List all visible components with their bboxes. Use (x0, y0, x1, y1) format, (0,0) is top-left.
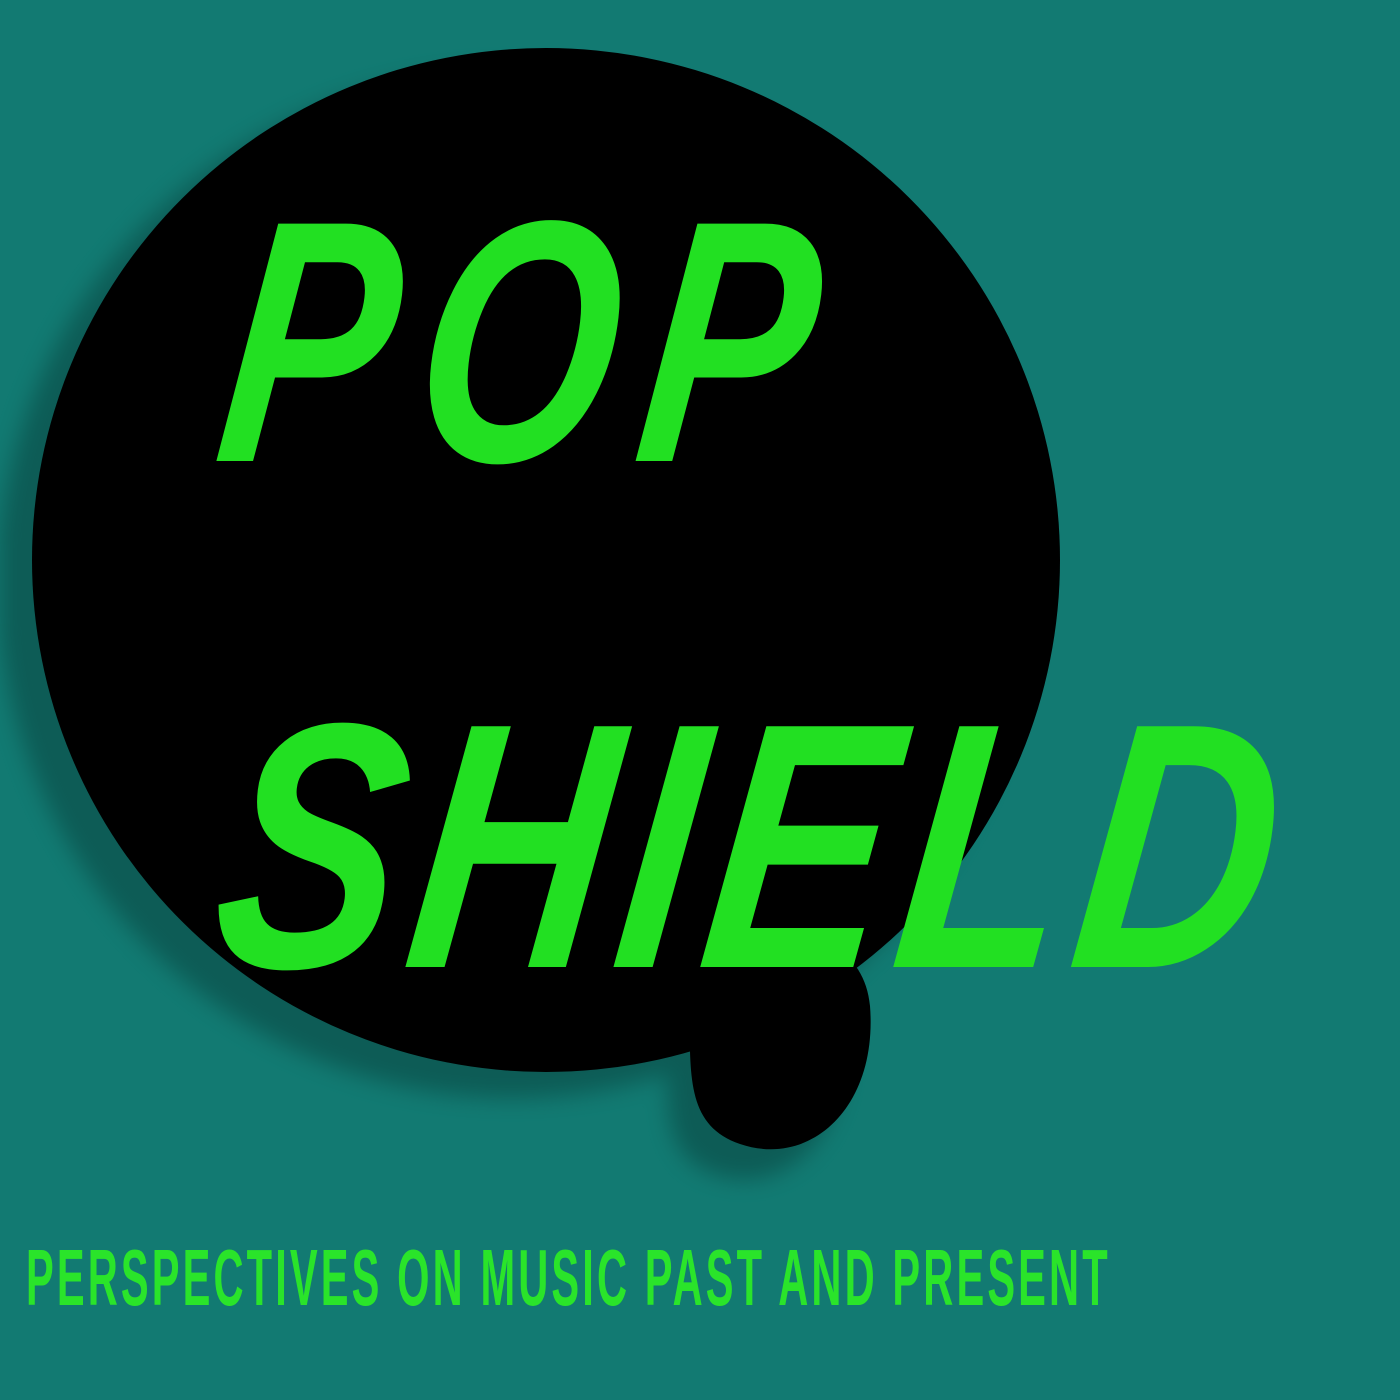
cover-art-canvas: POP SHIELD PERSPECTIVES ON MUSIC PAST AN… (0, 0, 1400, 1400)
logo-title-line-1: POP (206, 170, 861, 515)
logo-title-line-2: SHIELD (201, 672, 1311, 1022)
tagline-text: PERSPECTIVES ON MUSIC PAST AND PRESENT (26, 1238, 733, 1318)
